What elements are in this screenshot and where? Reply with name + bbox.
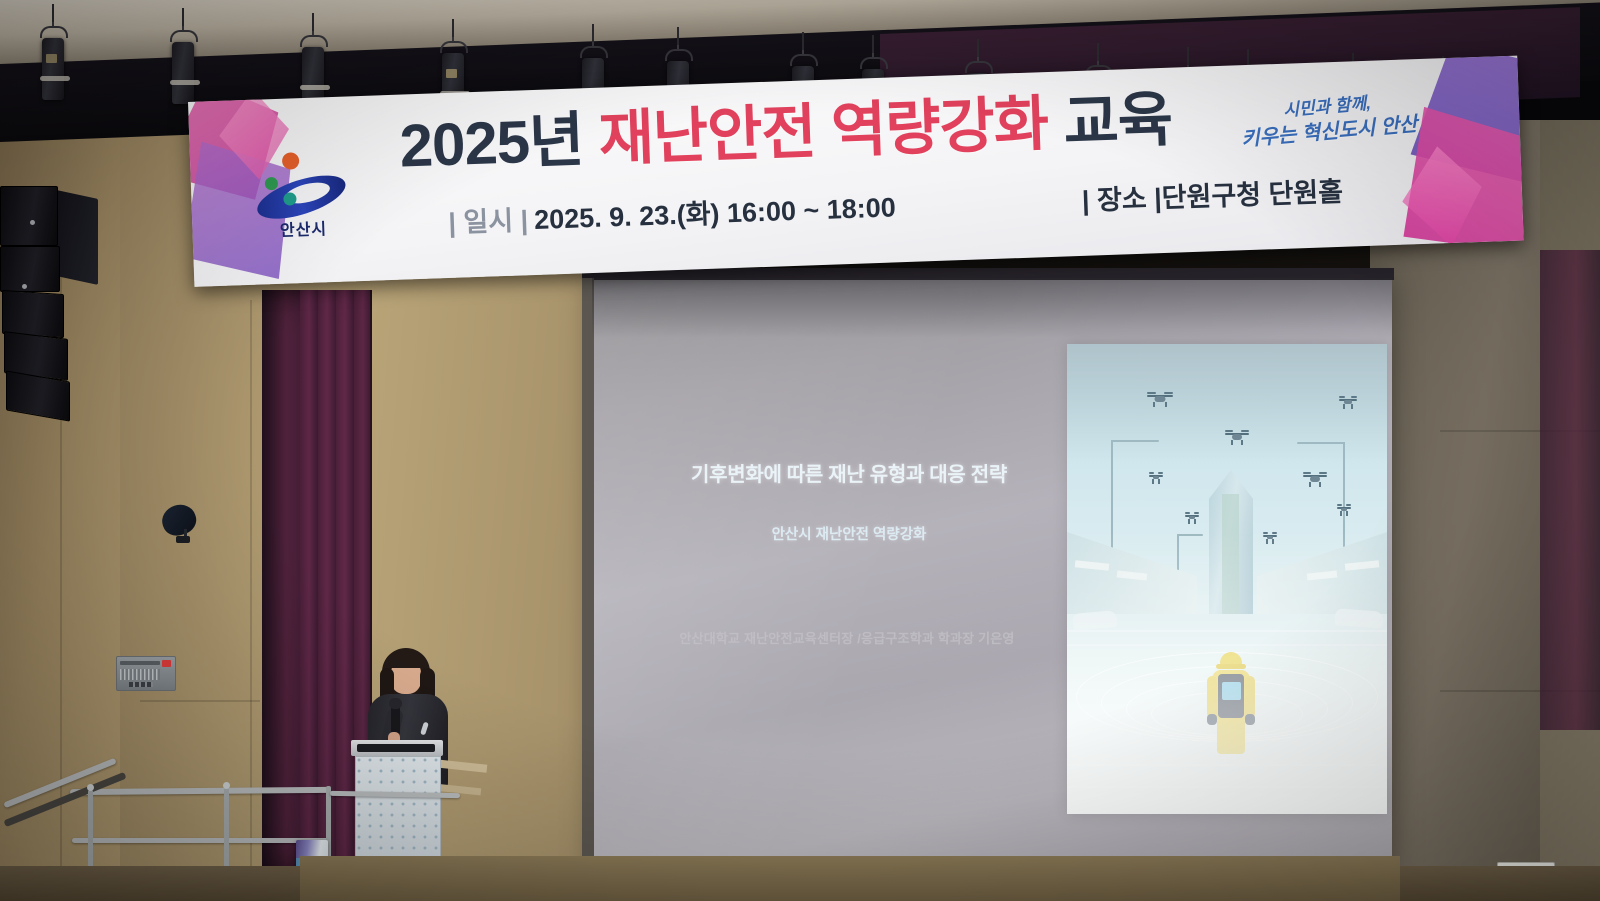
panel-buttons[interactable] (129, 682, 153, 687)
banner-title-year: 2025년 (399, 106, 585, 179)
panel-power-led (162, 660, 171, 667)
stage-floor (300, 856, 1400, 901)
stair-rail-mid (72, 838, 330, 843)
banner-date-value: 2025. 9. 23.(화) 16:00 ~ 18:00 (534, 192, 897, 235)
podium-slot (357, 744, 435, 752)
slide-title: 기후변화에 따른 재난 유형과 대응 전략 (634, 458, 1064, 487)
slide-photo (1067, 344, 1387, 814)
slide-credit: 안산대학교 재난안전교육센터장 /응급구조학과 학과장 기은영 (612, 628, 1082, 647)
stage-curtain-right (1540, 250, 1600, 730)
stage-light (40, 10, 66, 90)
banner-date-label: | 일시 | (448, 205, 529, 238)
wall-seam (140, 700, 260, 702)
light-cable (182, 8, 184, 26)
banner-venue-value: 단원구청 단원홀 (1161, 177, 1343, 213)
speaker-cabinet (2, 290, 64, 338)
banner-title-tail: 교육 (1062, 86, 1173, 157)
panel-sliders[interactable] (120, 669, 160, 680)
screen-edge (582, 278, 594, 873)
light-cable (677, 27, 679, 45)
line-array-speaker (0, 182, 86, 438)
slide-subtitle: 안산시 재난안전 역량강화 (634, 523, 1064, 544)
rail-knob (223, 782, 230, 789)
lighting-control-panel[interactable] (116, 656, 176, 691)
light-cable (312, 13, 314, 31)
speaker-bolt (22, 284, 27, 289)
wall-spotlight-icon (158, 503, 202, 543)
banner-venue-label: | 장소 | (1081, 183, 1162, 216)
logo-dot-orange-icon (282, 152, 300, 170)
light-cable (802, 32, 804, 50)
light-cable (1097, 43, 1099, 61)
banner-venue: | 장소 |단원구청 단원홀 (1081, 170, 1343, 218)
speaker-bolt (30, 220, 35, 225)
banner-title-highlight: 재난안전 역량강화 (598, 90, 1049, 173)
stage-scene: 기후변화에 따른 재난 유형과 대응 전략 안산시 재난안전 역량강화 안산대학… (0, 0, 1600, 901)
wall-seam (250, 300, 252, 870)
light-cable (52, 4, 54, 22)
speaker-cabinet (0, 246, 60, 292)
speaker-cabinet (0, 186, 58, 246)
projection-screen: 기후변화에 따른 재난 유형과 대응 전략 안산시 재난안전 역량강화 안산대학… (592, 278, 1392, 873)
screen-shadow (592, 278, 1392, 338)
banner-title: 2025년 재난안전 역량강화 교육 (399, 83, 1371, 177)
light-cable (592, 24, 594, 42)
banner-date: | 일시 |2025. 9. 23.(화) 16:00 ~ 18:00 (442, 185, 897, 240)
stage-light (170, 14, 196, 94)
ansan-city-logo: 안산시 (242, 140, 355, 244)
photo-fade-overlay (1067, 344, 1387, 814)
stage-light (300, 19, 326, 99)
light-cable (452, 19, 454, 37)
light-cable (872, 35, 874, 53)
logo-text: 안산시 (264, 215, 343, 242)
rail-knob (87, 784, 94, 791)
light-cable (1187, 47, 1189, 65)
light-cable (977, 39, 979, 57)
